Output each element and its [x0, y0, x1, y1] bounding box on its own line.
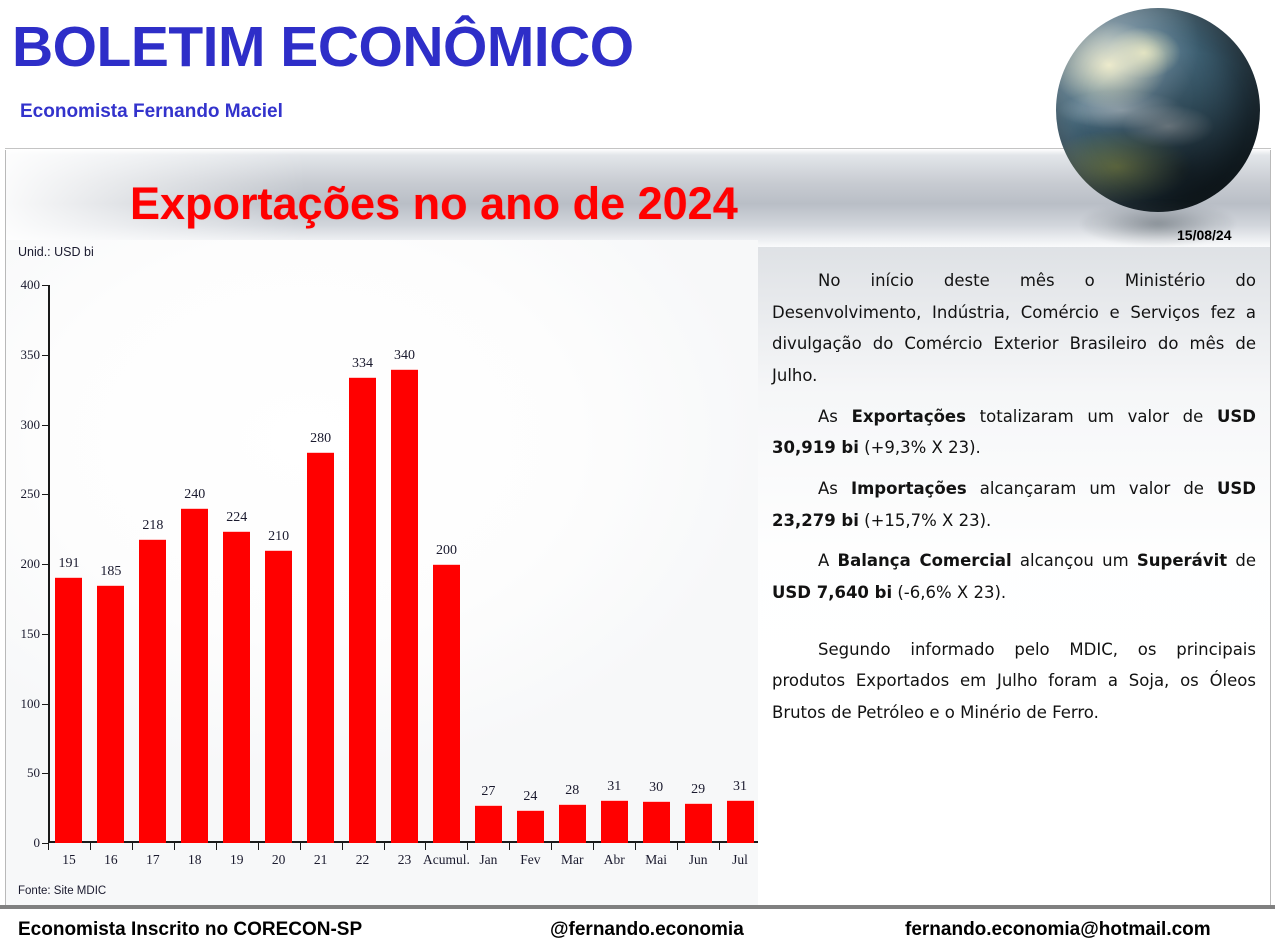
chart-unit-label: Unid.: USD bi — [18, 245, 94, 259]
bar — [223, 531, 250, 843]
boletim-economico-page: BOLETIM ECONÔMICO Economista Fernando Ma… — [0, 0, 1275, 950]
body-text: alcançou um — [1012, 551, 1137, 570]
footer-credential: Economista Inscrito no CORECON-SP — [18, 919, 362, 941]
bar — [559, 804, 586, 843]
body-text: (+15,7% X 23). — [859, 511, 991, 530]
y-tick-label: 100 — [6, 696, 40, 712]
x-tick-mark — [425, 843, 426, 850]
bar-value-label: 200 — [420, 543, 472, 559]
earth-globe-icon — [1052, 6, 1264, 246]
commentary-paragraph: A Balança Comercial alcançou um Superávi… — [772, 545, 1256, 608]
y-tick-mark — [42, 634, 49, 635]
x-tick-mark — [677, 843, 678, 850]
bar — [517, 810, 544, 843]
bar-value-label: 185 — [85, 564, 137, 580]
bar — [391, 369, 418, 843]
bar — [307, 452, 334, 843]
body-text: totalizaram um valor de — [966, 407, 1217, 426]
bar-value-label: 210 — [253, 529, 305, 545]
body-text: Segundo informado pelo MDIC, os principa… — [772, 640, 1256, 722]
x-tick-mark — [719, 843, 720, 850]
exports-bar-chart: Unid.: USD bi 050100150200250300350400 1… — [6, 240, 758, 905]
commentary-panel: No início deste mês o Ministério do Dese… — [758, 247, 1270, 905]
x-tick-mark — [551, 843, 552, 850]
bar-value-label: 224 — [211, 510, 263, 526]
section-title: Exportações no ano de 2024 — [130, 178, 738, 230]
y-tick-label: 250 — [6, 486, 40, 502]
x-tick-mark — [174, 843, 175, 850]
y-tick-label: 150 — [6, 626, 40, 642]
bar — [433, 564, 460, 843]
bar — [601, 800, 628, 843]
bar-value-label: 280 — [295, 431, 347, 447]
x-tick-mark — [467, 843, 468, 850]
bar — [265, 550, 292, 843]
y-tick-label: 50 — [6, 765, 40, 781]
page-title: BOLETIM ECONÔMICO — [12, 14, 634, 80]
bar — [139, 539, 166, 843]
x-tick-mark — [593, 843, 594, 850]
paragraph-spacer — [772, 618, 1256, 634]
x-tick-mark — [300, 843, 301, 850]
body-text: A — [818, 551, 838, 570]
x-tick-mark — [342, 843, 343, 850]
y-tick-mark — [42, 285, 49, 286]
bar — [727, 800, 754, 843]
y-tick-label: 0 — [6, 835, 40, 851]
y-tick-mark — [42, 773, 49, 774]
body-text: de — [1227, 551, 1256, 570]
page-border-right — [1270, 148, 1271, 905]
emphasis-text: Superávit — [1137, 551, 1227, 570]
body-text: alcançaram um valor de — [967, 479, 1217, 498]
body-text: (+9,3% X 23). — [859, 438, 981, 457]
x-tick-mark — [509, 843, 510, 850]
commentary-paragraph: As Importações alcançaram um valor de US… — [772, 473, 1256, 536]
y-tick-mark — [42, 494, 49, 495]
bar-value-label: 240 — [169, 487, 221, 503]
bar — [181, 508, 208, 843]
bar-value-label: 218 — [127, 518, 179, 534]
emphasis-text: Balança Comercial — [838, 551, 1012, 570]
commentary-paragraph: Segundo informado pelo MDIC, os principa… — [772, 634, 1256, 729]
y-tick-label: 400 — [6, 277, 40, 293]
bar — [475, 805, 502, 843]
bar — [97, 585, 124, 843]
x-tick-mark — [132, 843, 133, 850]
document-date: 15/08/24 — [1177, 227, 1232, 243]
body-text: No início deste mês o Ministério do Dese… — [772, 271, 1256, 385]
y-tick-label: 300 — [6, 417, 40, 433]
emphasis-text: USD 7,640 bi — [772, 583, 892, 602]
x-tick-mark — [635, 843, 636, 850]
bar — [55, 577, 82, 843]
y-tick-mark — [42, 425, 49, 426]
footer: Economista Inscrito no CORECON-SP @ferna… — [0, 909, 1275, 950]
x-tick-mark — [48, 843, 49, 850]
footer-social-handle[interactable]: @fernando.economia — [550, 919, 744, 941]
bar-value-label: 340 — [379, 348, 431, 364]
body-text: (-6,6% X 23). — [892, 583, 1006, 602]
y-tick-mark — [42, 704, 49, 705]
author-subtitle: Economista Fernando Maciel — [20, 101, 283, 123]
emphasis-text: Exportações — [852, 407, 966, 426]
commentary-paragraph: No início deste mês o Ministério do Dese… — [772, 265, 1256, 392]
bar — [643, 801, 670, 843]
body-text: As — [818, 407, 852, 426]
bar — [685, 803, 712, 843]
x-tick-mark — [90, 843, 91, 850]
y-tick-label: 200 — [6, 556, 40, 572]
x-tick-mark — [258, 843, 259, 850]
footer-email[interactable]: fernando.economia@hotmail.com — [905, 919, 1211, 941]
bar — [349, 377, 376, 843]
emphasis-text: Importações — [851, 479, 967, 498]
globe-highlight — [1056, 8, 1260, 212]
y-tick-mark — [42, 355, 49, 356]
commentary-paragraph: As Exportações totalizaram um valor de U… — [772, 401, 1256, 464]
chart-source-note: Fonte: Site MDIC — [18, 885, 106, 897]
y-tick-label: 350 — [6, 347, 40, 363]
x-tick-mark — [384, 843, 385, 850]
body-text: As — [818, 479, 851, 498]
x-tick-mark — [216, 843, 217, 850]
